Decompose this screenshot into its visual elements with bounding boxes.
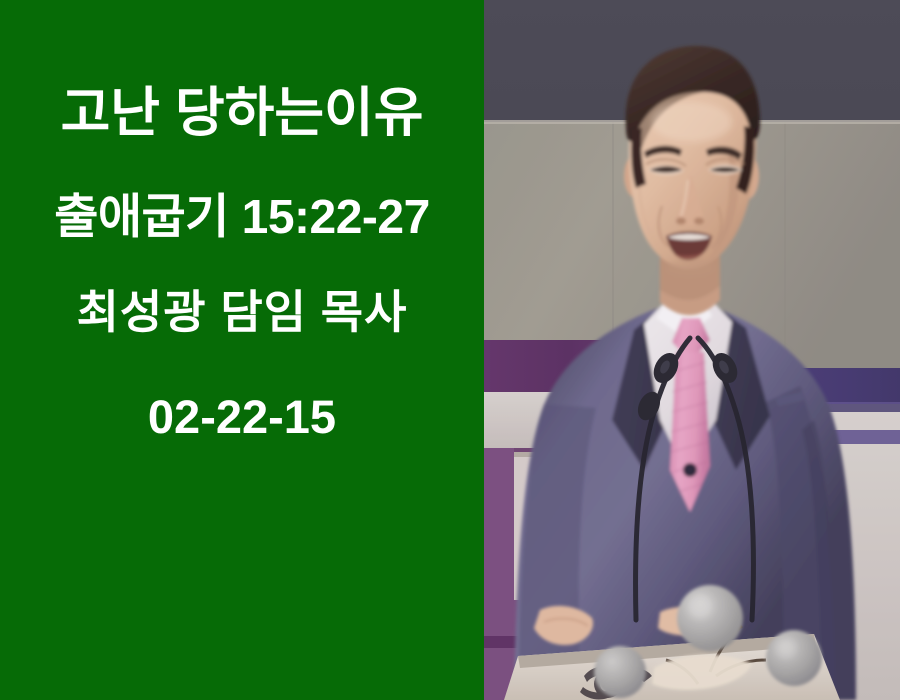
sermon-title: 고난 당하는이유 xyxy=(0,86,484,140)
photo-color-cast xyxy=(484,0,900,700)
preacher-photo xyxy=(484,0,900,700)
scripture-reference: 출애굽기 15:22-27 xyxy=(0,194,484,242)
title-panel: 고난 당하는이유 출애굽기 15:22-27 최성광 담임 목사 02-22-1… xyxy=(0,0,484,700)
sermon-title-card: 고난 당하는이유 출애굽기 15:22-27 최성광 담임 목사 02-22-1… xyxy=(0,0,900,700)
speaker-name: 최성광 담임 목사 xyxy=(0,289,484,335)
sermon-date: 02-22-15 xyxy=(0,393,484,440)
preacher-photo-illustration xyxy=(484,0,900,700)
